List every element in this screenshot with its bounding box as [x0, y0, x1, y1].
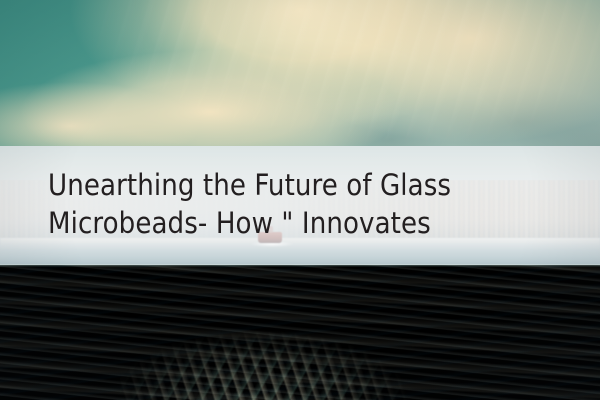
cloud-streaks: [0, 0, 600, 150]
banner-image: Unearthing the Future of Glass Microbead…: [0, 0, 600, 400]
title-container: Unearthing the Future of Glass Microbead…: [0, 146, 600, 265]
wake-foam: [120, 300, 420, 400]
banner-title: Unearthing the Future of Glass Microbead…: [0, 166, 600, 246]
